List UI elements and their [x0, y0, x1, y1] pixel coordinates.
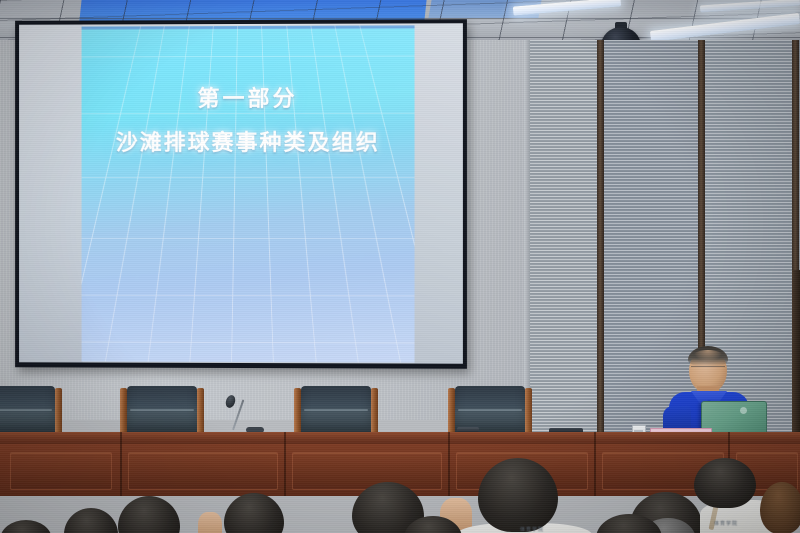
screen-unlit-left — [19, 25, 82, 363]
slide-title: 第一部分 — [82, 84, 415, 114]
chair-arm — [294, 388, 301, 436]
projection-screen-surface: 第一部分 沙滩排球赛事种类及组织 — [19, 23, 463, 364]
chair-arm — [55, 388, 62, 436]
audience-member-extra — [0, 520, 52, 533]
photograph-scene: 第一部分 沙滩排球赛事种类及组织 — [0, 0, 800, 533]
wall-divider — [597, 40, 604, 440]
table-panel — [128, 452, 278, 490]
screen-unlit-right — [415, 23, 463, 364]
acoustic-panel — [530, 40, 598, 440]
chair-arm — [197, 388, 204, 436]
audience-member-8 — [760, 482, 800, 533]
chair-arm — [371, 388, 378, 436]
presenter-hair — [688, 346, 728, 366]
audience-member-2 — [118, 496, 180, 533]
audience-member-3 — [224, 493, 284, 533]
presenter-glasses — [691, 366, 725, 373]
audience-tshirt-text: 体育学院 — [520, 526, 544, 533]
chair-arm — [525, 388, 532, 436]
table-panel — [10, 452, 112, 490]
slide-text-block: 第一部分 沙滩排球赛事种类及组织 — [82, 84, 415, 159]
laptop-logo — [740, 407, 747, 414]
chair-1[interactable] — [0, 386, 62, 436]
chair-arm — [448, 388, 455, 436]
audience-member-6 — [478, 458, 558, 532]
chair-2[interactable] — [120, 386, 204, 436]
table-panel — [292, 452, 442, 490]
chair-back — [127, 386, 197, 434]
audience-member-1 — [64, 508, 118, 533]
projected-slide: 第一部分 沙滩排球赛事种类及组织 — [82, 25, 415, 362]
audience-raised-arm — [198, 512, 222, 533]
table-seam — [594, 432, 596, 496]
chair-3[interactable] — [294, 386, 378, 436]
table-seam — [284, 432, 286, 496]
chair-back — [0, 386, 55, 434]
wall-edge-trim — [792, 270, 800, 440]
chair-back — [301, 386, 371, 434]
audience-member-8-head — [694, 458, 756, 508]
audience-tshirt-text-2: 体育学院 — [714, 520, 738, 527]
slide-subtitle: 沙滩排球赛事种类及组织 — [82, 125, 415, 158]
table-seam — [448, 432, 450, 496]
table-seam — [120, 432, 122, 496]
projection-screen: 第一部分 沙滩排球赛事种类及组织 — [15, 19, 467, 369]
chair-arm — [120, 388, 127, 436]
